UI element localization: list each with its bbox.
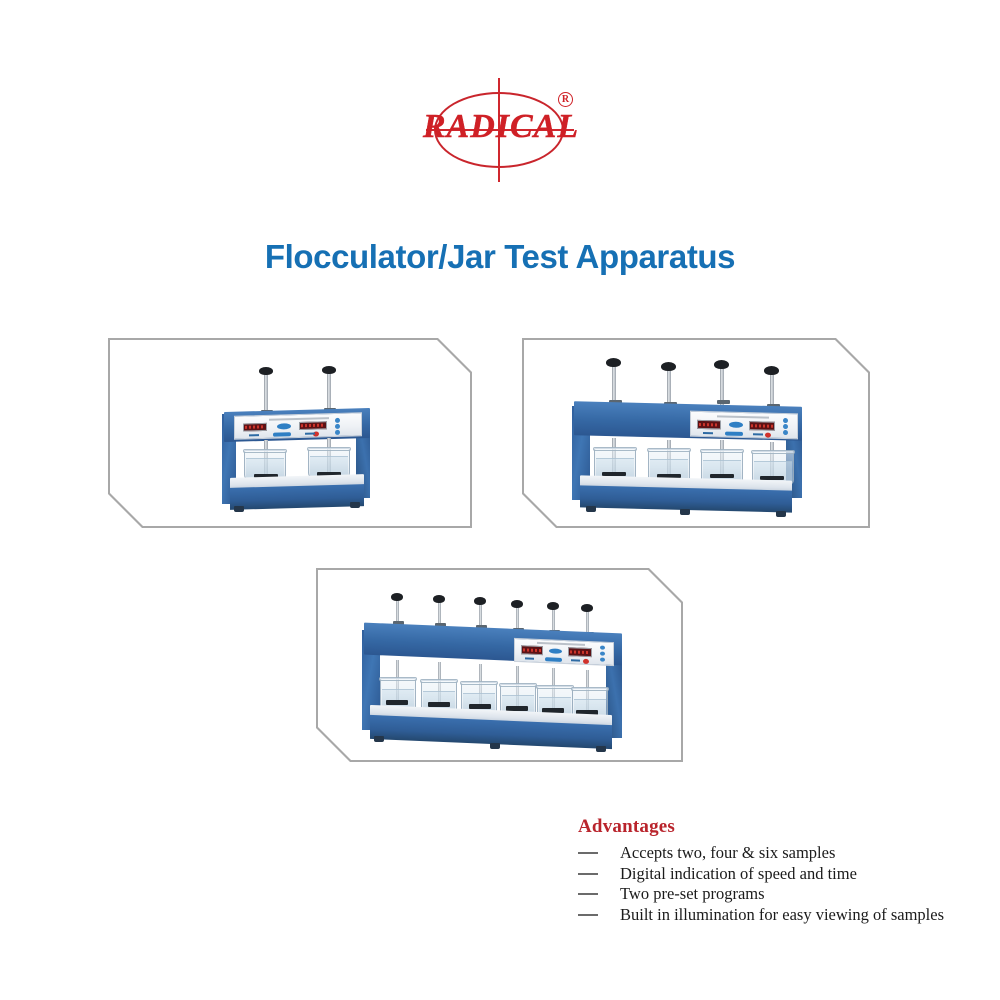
cabinet-foot <box>586 506 596 512</box>
stirrer-paddle <box>386 700 408 705</box>
panel-button-set[interactable] <box>783 430 788 435</box>
panel-button-down[interactable] <box>783 424 788 429</box>
advantages-list: Accepts two, four & six samples Digital … <box>578 843 978 924</box>
beaker-rim <box>307 447 351 451</box>
brand-logo: RADICAL R <box>418 78 598 182</box>
beaker-rim <box>751 450 795 454</box>
panel-button-set[interactable] <box>335 430 340 435</box>
cabinet-base <box>230 484 364 510</box>
panel-brand-badge <box>545 657 562 662</box>
panel-button-up[interactable] <box>783 418 788 423</box>
apparatus-six-jar <box>360 588 632 752</box>
beaker-rim <box>700 449 744 453</box>
stirrer-knob <box>661 362 676 371</box>
timer-knob-marker[interactable] <box>753 433 763 435</box>
list-item: Accepts two, four & six samples <box>578 843 978 863</box>
panel-button-up[interactable] <box>600 646 605 650</box>
cabinet-foot <box>776 511 786 517</box>
beaker-rim <box>536 685 574 689</box>
beaker-rim <box>243 449 287 453</box>
panel-legend-text <box>717 415 769 418</box>
timer-display <box>299 421 327 430</box>
panel-legend-text <box>537 642 585 646</box>
cabinet-foot <box>490 743 500 749</box>
timer-knob-marker[interactable] <box>305 433 315 435</box>
stirrer-knob <box>606 358 621 367</box>
panel-button-down[interactable] <box>335 424 340 429</box>
stirrer-knob <box>764 366 779 375</box>
stirrer-knob <box>581 604 593 612</box>
panel-logo-badge <box>729 422 743 428</box>
list-item-label: Digital indication of speed and time <box>620 864 857 883</box>
panel-brand-badge <box>725 432 743 436</box>
control-panel <box>514 638 614 666</box>
stirrer-knob <box>714 360 729 369</box>
product-image-two-jar <box>108 338 472 528</box>
cabinet-foot <box>374 736 384 742</box>
beaker-rim <box>420 679 458 683</box>
speed-knob-marker[interactable] <box>525 657 534 659</box>
product-image-six-jar <box>316 568 683 762</box>
speed-knob-marker[interactable] <box>703 432 713 434</box>
cabinet-foot <box>596 746 606 752</box>
beaker-rim <box>379 677 417 681</box>
panel-button-down[interactable] <box>600 652 605 656</box>
dash-bullet-icon <box>578 914 598 916</box>
list-item-label: Accepts two, four & six samples <box>620 843 835 862</box>
stirrer-clamp <box>717 400 730 404</box>
advantages-section: Advantages Accepts two, four & six sampl… <box>578 816 978 925</box>
list-item-label: Two pre-set programs <box>620 884 765 903</box>
dash-bullet-icon <box>578 852 598 854</box>
cabinet-foot <box>680 509 690 515</box>
apparatus-four-jar <box>568 354 808 514</box>
stirrer-paddle <box>710 474 734 478</box>
brand-name: RADICAL <box>418 108 584 146</box>
product-image-four-jar <box>522 338 870 528</box>
timer-display <box>568 647 592 657</box>
advantages-heading: Advantages <box>578 816 978 838</box>
stirrer-knob <box>322 366 336 374</box>
stirrer-knob <box>474 597 486 605</box>
photo-stage <box>108 338 472 528</box>
beaker-rim <box>499 683 537 687</box>
page-title: Flocculator/Jar Test Apparatus <box>0 238 1000 276</box>
registered-trademark-icon: R <box>558 92 573 107</box>
control-panel <box>690 411 798 440</box>
power-button[interactable] <box>583 659 589 664</box>
speed-display <box>243 423 267 432</box>
stirrer-knob <box>391 593 403 601</box>
speed-display <box>697 420 721 430</box>
speed-knob-marker[interactable] <box>249 434 259 436</box>
list-item: Built in illumination for easy viewing o… <box>578 905 978 925</box>
cabinet-foot <box>350 502 360 508</box>
panel-logo-badge <box>549 648 562 654</box>
list-item: Digital indication of speed and time <box>578 864 978 884</box>
stirrer-knob <box>547 602 559 610</box>
stirrer-knob <box>433 595 445 603</box>
timer-display <box>749 421 775 431</box>
timer-knob-marker[interactable] <box>571 659 580 661</box>
list-item: Two pre-set programs <box>578 884 978 904</box>
cabinet-foot <box>234 506 244 512</box>
stirrer-knob <box>511 600 523 608</box>
beaker-rim <box>460 681 498 685</box>
panel-brand-badge <box>273 432 291 437</box>
apparatus-two-jar <box>216 366 376 511</box>
beaker-rim <box>647 448 691 452</box>
stirrer-knob <box>259 367 273 375</box>
panel-button-set[interactable] <box>600 658 605 662</box>
dash-bullet-icon <box>578 873 598 875</box>
panel-legend-text <box>269 417 329 420</box>
speed-display <box>521 645 543 655</box>
list-item-label: Built in illumination for easy viewing o… <box>620 905 944 924</box>
beaker-rim <box>593 447 637 451</box>
dash-bullet-icon <box>578 893 598 895</box>
power-button[interactable] <box>765 433 771 438</box>
panel-button-up[interactable] <box>335 418 340 423</box>
beaker-rim <box>571 687 609 691</box>
photo-stage <box>522 338 870 528</box>
control-panel <box>234 412 362 440</box>
stirrer-paddle <box>428 702 450 707</box>
panel-logo-badge <box>277 423 291 429</box>
photo-stage <box>316 568 683 762</box>
